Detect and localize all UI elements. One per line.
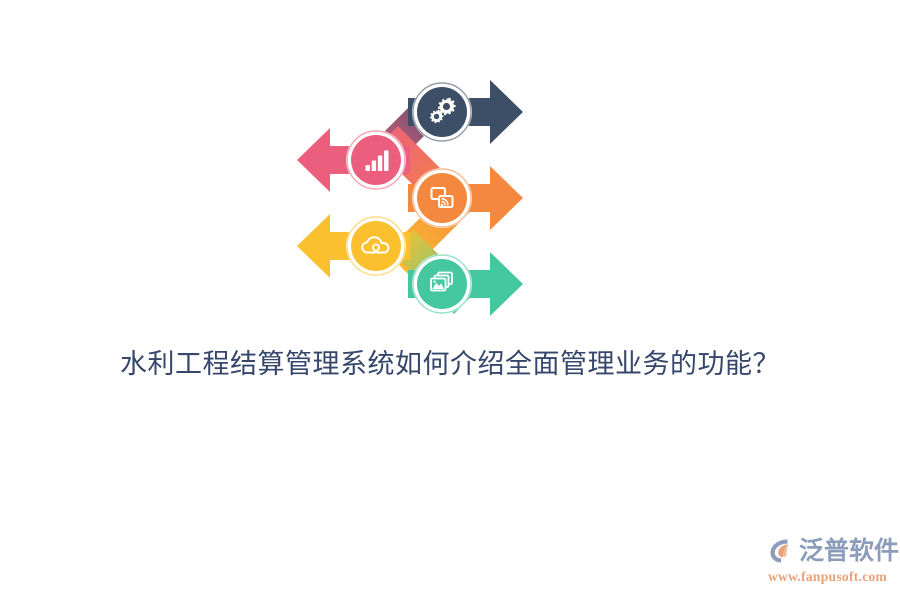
brand-name: 泛普软件 (799, 536, 899, 566)
brand-url: www.fanpusoft.com (768, 569, 892, 585)
arrow-row-gears[interactable] (408, 80, 523, 144)
page-root: 水利工程结算管理系统如何介绍全面管理业务的功能？ 泛普软件 www.fanpus… (0, 0, 900, 600)
fanpu-logo-mark-icon (766, 536, 796, 566)
arrow-row-cloud[interactable] (297, 214, 410, 278)
icon-disc-cloud (351, 221, 401, 271)
brand-row: 泛普软件 (766, 534, 892, 568)
brand-watermark: 泛普软件 www.fanpusoft.com (766, 534, 892, 588)
arrow-row-screen-cast[interactable] (408, 166, 523, 230)
infographic-graphic (280, 68, 545, 318)
page-title: 水利工程结算管理系统如何介绍全面管理业务的功能？ (0, 344, 900, 384)
icon-disc-bar-chart (351, 135, 401, 185)
arrow-row-photos[interactable] (408, 252, 523, 316)
arrow-row-bar-chart[interactable] (297, 128, 410, 192)
